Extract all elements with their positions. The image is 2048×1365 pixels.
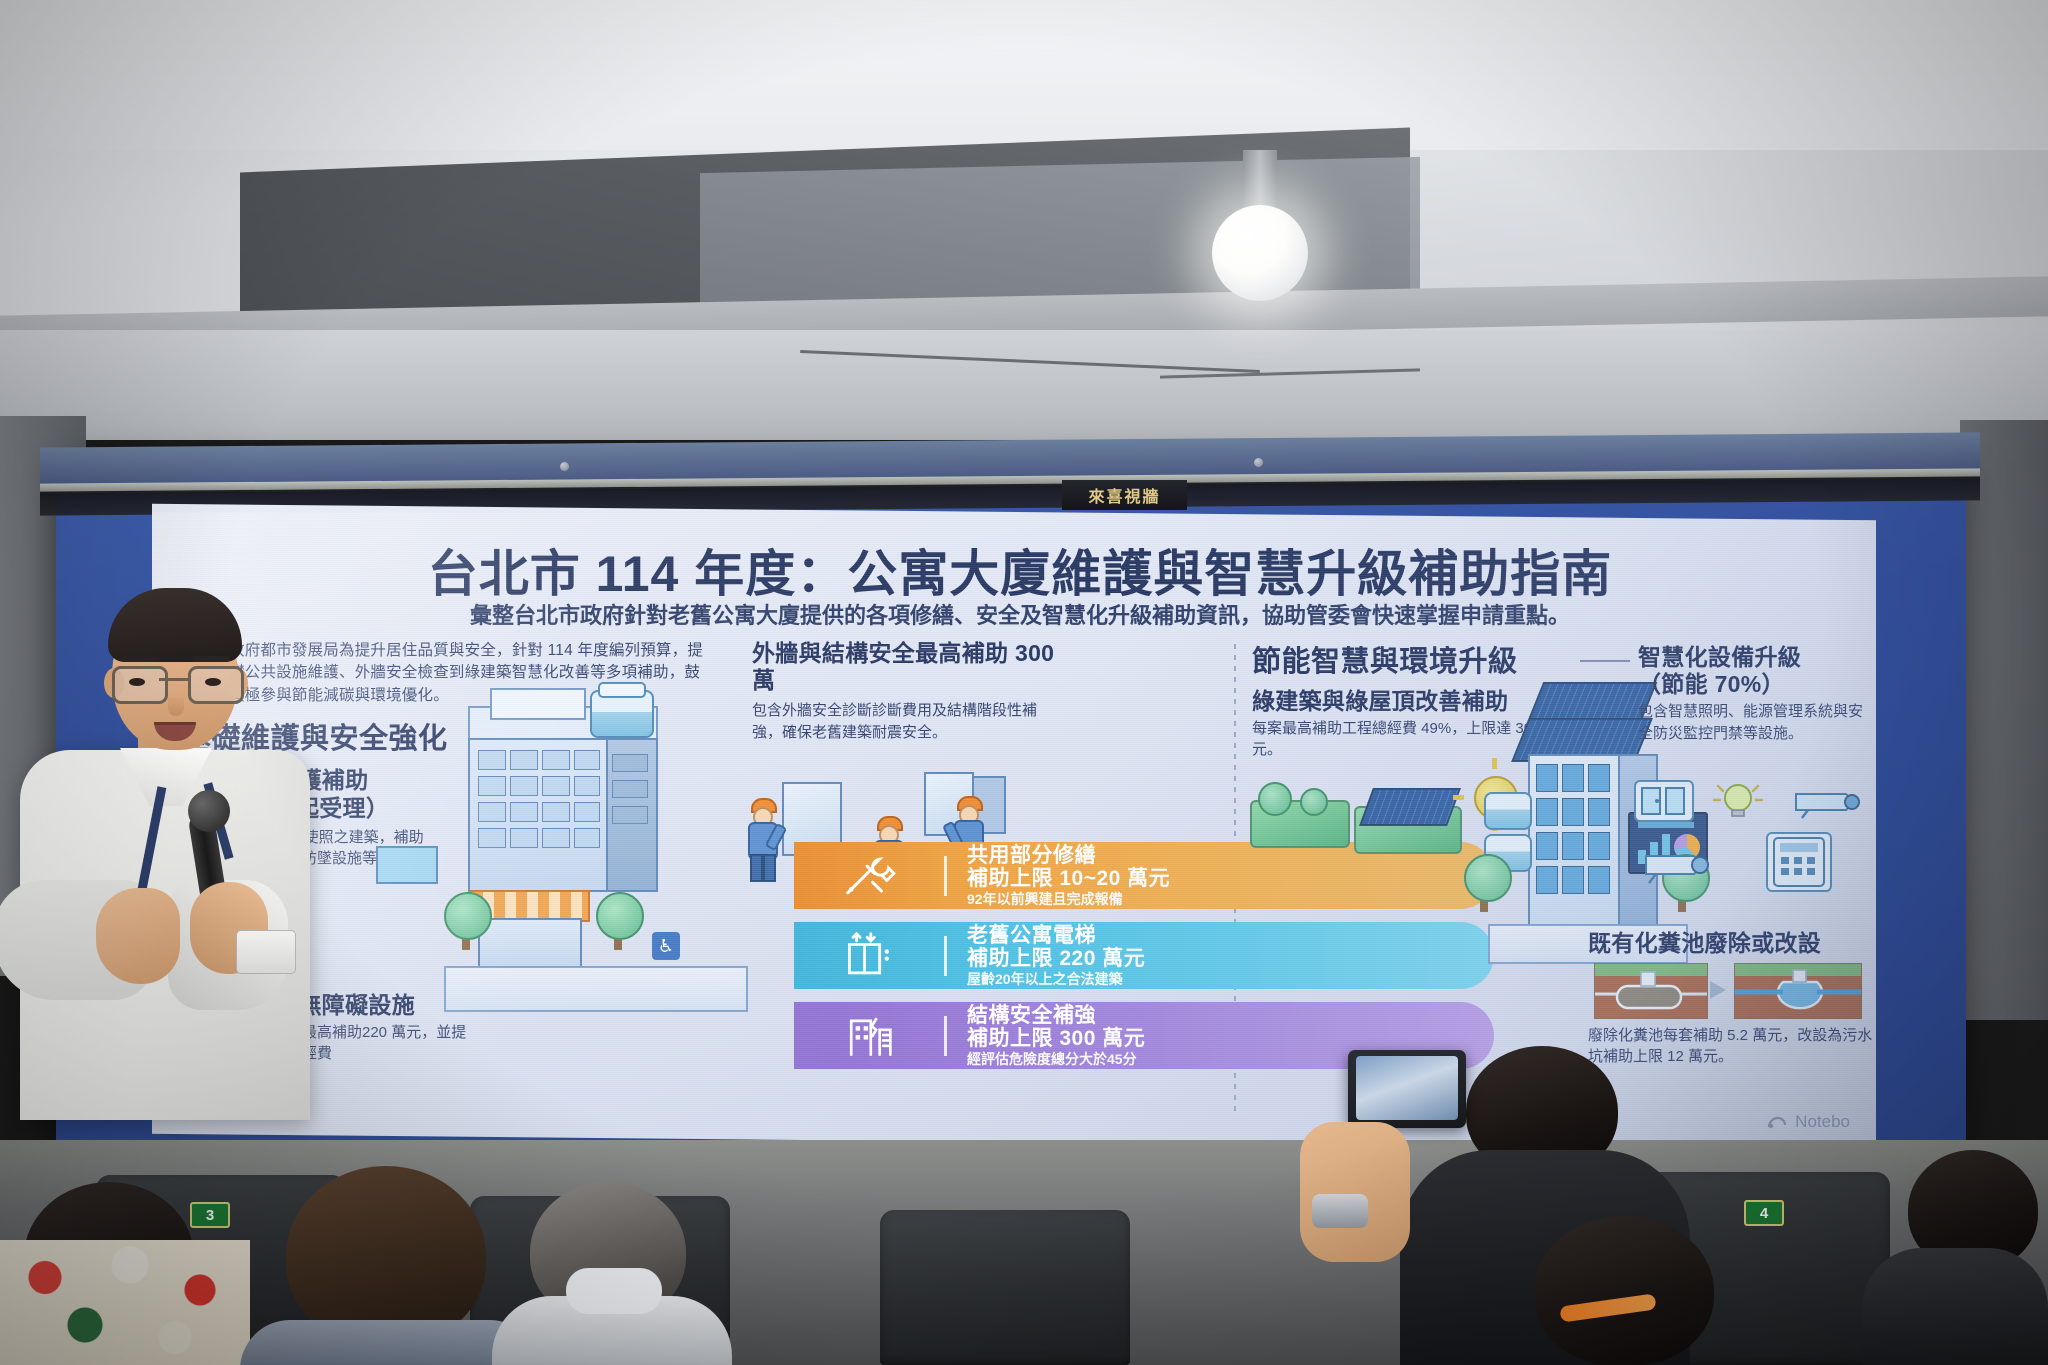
- poster-mid-column: 外牆與結構安全最高補助 300 萬 包含外牆安全診斷診斷費用及結構階段性補強，確…: [752, 640, 1232, 743]
- poster-watermark: Notebo: [1767, 1112, 1850, 1132]
- arrow-right-icon: [1710, 981, 1726, 999]
- ribbon-title: 老舊公寓電梯: [967, 924, 1145, 948]
- poster-title: 台北市 114 年度：公寓大廈維護與智慧升級補助指南: [200, 534, 1840, 606]
- ribbon-separator: [944, 936, 947, 976]
- building-window: [574, 828, 600, 848]
- info-panel-screen: [376, 846, 438, 884]
- ribbon-note: 經評估危險度總分大於45分: [967, 1052, 1145, 1068]
- building-window: [612, 806, 648, 824]
- water-tank: [1484, 792, 1532, 830]
- tree: [444, 892, 492, 940]
- audience-face-mask: [566, 1268, 662, 1314]
- roof-shrub: [1258, 782, 1292, 816]
- seat-number-badge: 4: [1744, 1200, 1784, 1226]
- ribbon-note: 屋齡20年以上之合法建築: [967, 972, 1145, 988]
- speaker-eyebrow: [192, 656, 230, 662]
- exterior-wall-body: 包含外牆安全診斷診斷費用及結構階段性補強，確保老舊建築耐震安全。: [752, 700, 1052, 743]
- ribbon-separator: [944, 1016, 947, 1056]
- audience-arm-raised: [1300, 1122, 1410, 1262]
- septic-body: 廢除化糞池每套補助 5.2 萬元，改設為污水坑補助上限 12 萬元。: [1588, 1025, 1876, 1068]
- speaker-eye: [205, 678, 221, 686]
- building-window: [510, 802, 538, 822]
- ribbon-amount: 補助上限 220 萬元: [967, 947, 1145, 971]
- wrench-screwdriver-icon: [794, 842, 944, 909]
- ribbon-amount: 補助上限 300 萬元: [967, 1027, 1145, 1051]
- smart-device-block: 智慧化設備升級 （節能 70%） 包含智慧照明、能源管理系統與安全防災監控門禁等…: [1638, 644, 1876, 744]
- board-screw: [560, 462, 569, 471]
- building-window: [574, 802, 600, 822]
- side-wall-right: [1960, 420, 2048, 1020]
- seat-number-label: 4: [1760, 1205, 1768, 1222]
- presentation-poster: 台北市 114 年度：公寓大廈維護與智慧升級補助指南 彙整台北市政府針對老舊公寓…: [152, 504, 1876, 1151]
- ribbon-elevator[interactable]: 老舊公寓電梯 補助上限 220 萬元 屋齡20年以上之合法建築: [794, 922, 1494, 989]
- audience-head: [286, 1166, 486, 1346]
- septic-before-diagram: [1594, 963, 1708, 1019]
- wristwatch: [1312, 1194, 1368, 1228]
- upper-wall: [0, 330, 2048, 440]
- building-window: [510, 750, 538, 770]
- poster-subtitle: 彙整台北市政府針對老舊公寓大廈提供的各項修繕、安全及智慧化升級補助資訊，協助管委…: [200, 598, 1840, 630]
- speaker-left-hand: [96, 888, 180, 984]
- septic-tank-block: 既有化糞池廢除或改設: [1588, 930, 1876, 1068]
- ribbon-title: 共用部分修繕: [967, 844, 1170, 868]
- roof-shrub: [1300, 788, 1328, 816]
- audience-seat[interactable]: [880, 1210, 1130, 1365]
- smart-device-heading-line2: （節能 70%）: [1638, 671, 1876, 698]
- seat-number-label: 3: [206, 1207, 214, 1224]
- septic-heading: 既有化糞池廢除或改設: [1588, 930, 1876, 957]
- poster-watermark-label: Notebo: [1795, 1112, 1850, 1132]
- smart-device-heading: 智慧化設備升級: [1638, 644, 1876, 671]
- ribbon-amount: 補助上限 10~20 萬元: [967, 867, 1170, 891]
- tree: [1464, 854, 1512, 902]
- septic-after-diagram: [1734, 963, 1862, 1019]
- building-window: [612, 754, 648, 772]
- keypad-access-icon: [1766, 832, 1832, 892]
- board-screw: [1254, 458, 1263, 467]
- venue-plaque-label: 來喜視牆: [1088, 483, 1160, 507]
- ribbon-separator: [944, 856, 947, 896]
- cctv-camera-icon: [1786, 780, 1876, 820]
- solar-panel: [1359, 788, 1461, 826]
- exterior-wall-heading: 外牆與結構安全最高補助 300 萬: [752, 640, 1072, 694]
- ceiling: [0, 0, 2048, 430]
- building-window: [612, 780, 648, 798]
- building-window: [542, 802, 570, 822]
- wheelchair-icon: ♿: [652, 932, 680, 960]
- smartphone-screen[interactable]: [1356, 1056, 1458, 1120]
- ceiling-light-bulb: [1212, 205, 1308, 301]
- building-window: [510, 828, 538, 848]
- building-window: [510, 776, 538, 796]
- screenshot-root: 來喜視牆 台北市 114 年度：公寓大廈維護與智慧升級補助指南 彙整台北市政府針…: [0, 0, 2048, 1365]
- building-window: [478, 776, 506, 796]
- building-roof-box: [490, 688, 586, 720]
- speaker-nose: [168, 698, 184, 716]
- building-window: [542, 750, 570, 770]
- building-crack-icon: [794, 1002, 944, 1069]
- tree: [596, 892, 644, 940]
- building-entrance: [478, 918, 582, 970]
- cctv-dome-icon: [1638, 840, 1730, 884]
- notebook-logo-icon: [1767, 1114, 1787, 1130]
- speaker-glasses-bridge: [159, 678, 191, 681]
- water-tank-lid: [598, 682, 646, 698]
- seat-number-badge: 3: [190, 1202, 230, 1228]
- building-window: [574, 750, 600, 770]
- speaker-mask-on-wrist: [236, 930, 296, 974]
- building-window: [478, 828, 506, 848]
- apartment-building-illustration: ♿: [444, 680, 774, 1010]
- smart-device-body: 包含智慧照明、能源管理系統與安全防災監控門禁等設施。: [1638, 701, 1866, 744]
- building-window: [542, 776, 570, 796]
- audience-shoulders: [1862, 1248, 2048, 1365]
- ribbon-note: 92年以前興建且完成報備: [967, 892, 1170, 908]
- elevator-icon: [794, 922, 944, 989]
- building-window: [478, 750, 506, 770]
- subsidy-ribbon-list: 共用部分修繕 補助上限 10~20 萬元 92年以前興建且完成報備: [794, 842, 1494, 1077]
- audience-patterned-clothing: [0, 1240, 250, 1365]
- building-window: [542, 828, 570, 848]
- speaker-eyebrow: [122, 656, 160, 662]
- ceiling-panel: [0, 0, 2048, 150]
- smart-door-icon: [1634, 780, 1694, 822]
- ribbon-title: 結構安全補強: [967, 1004, 1145, 1028]
- building-window: [478, 802, 506, 822]
- smart-device-icon-row: [1634, 780, 1876, 910]
- smart-bulb-icon: [1712, 780, 1764, 818]
- venue-plaque: 來喜視牆: [1062, 480, 1187, 510]
- leader-line: [1580, 660, 1630, 662]
- building-window: [574, 776, 600, 796]
- audience-head: [1534, 1216, 1714, 1365]
- speaker-eye: [129, 678, 145, 686]
